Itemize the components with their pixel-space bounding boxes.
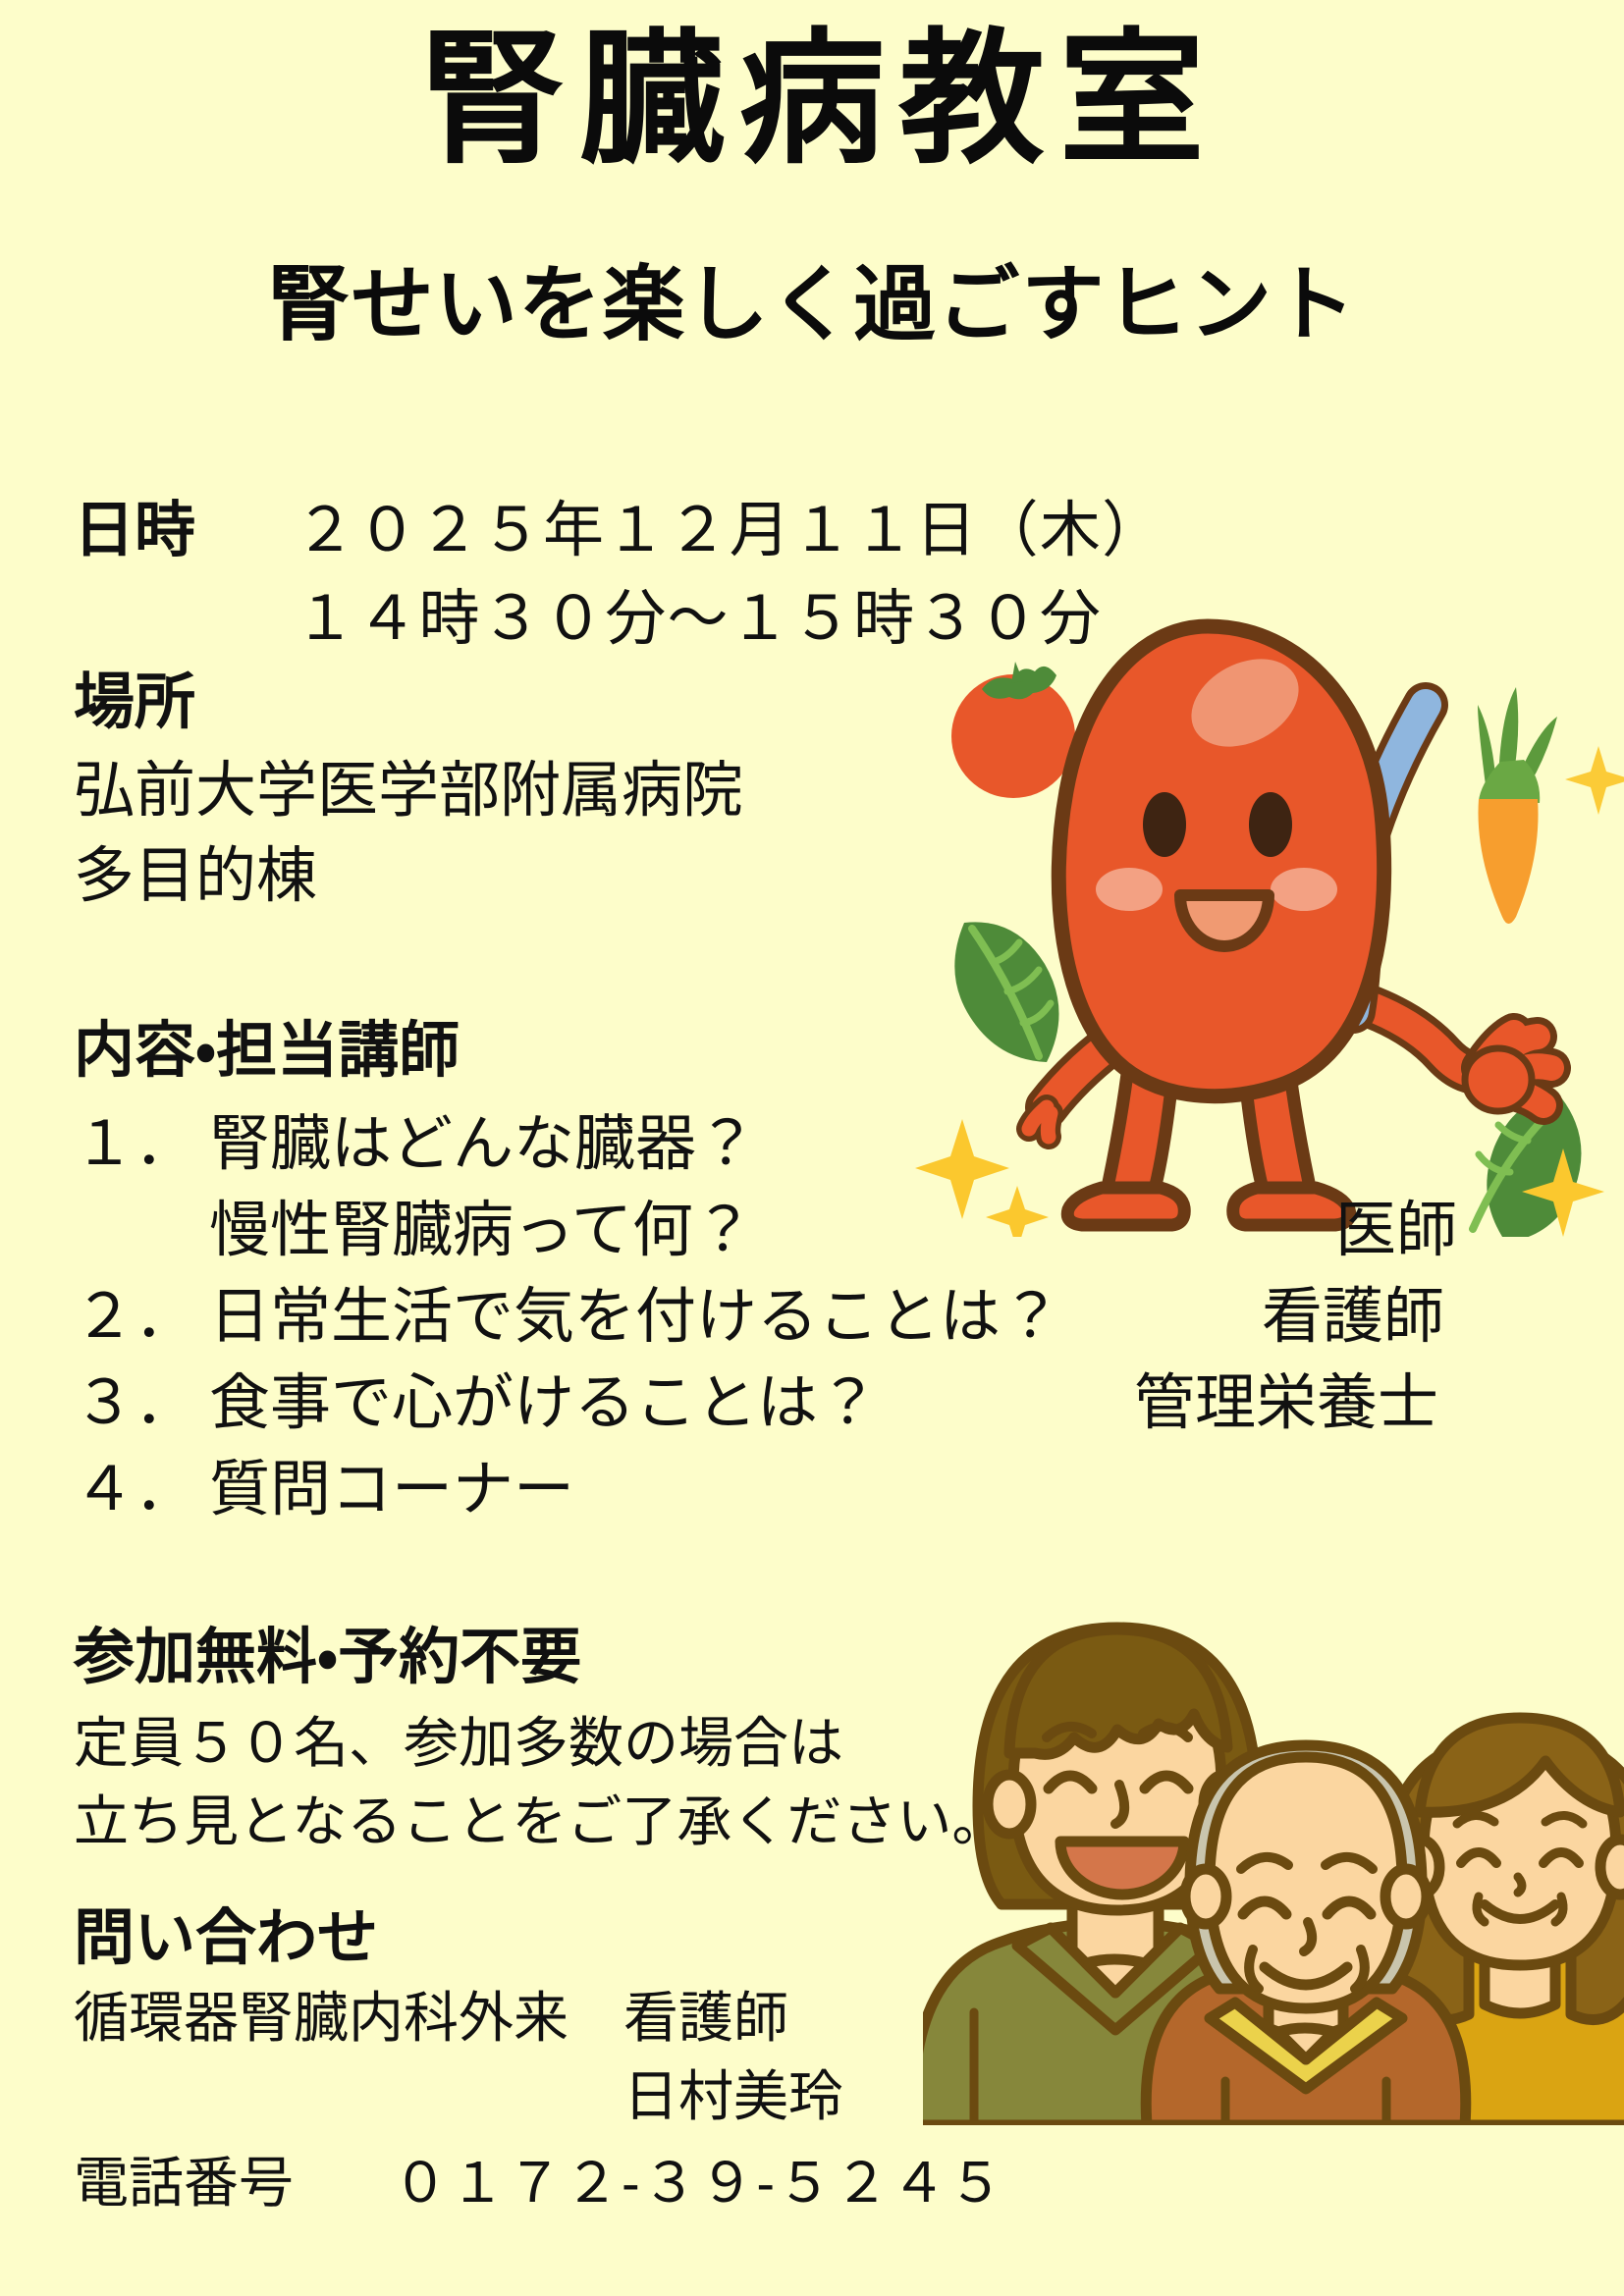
page-title: 腎臓病教室: [0, 27, 1624, 173]
program-item-instructor: 管理栄養士: [1134, 1373, 1438, 1434]
kidney-mouth: [1180, 895, 1269, 946]
carrot-icon: [1478, 687, 1557, 924]
page-subtitle: 腎せいを楽しく過ごすヒント: [0, 263, 1624, 346]
participation-note-line-2: 立ち見となることをご了承ください。: [74, 1794, 1006, 1849]
venue-line-2: 多目的棟: [74, 846, 317, 907]
datetime-date: ２０２５年１２月１１日（木）: [295, 501, 1164, 561]
spinach-leaf-icon: [954, 922, 1058, 1062]
program-item-text: 食事で心がけることは？: [209, 1373, 879, 1434]
program-label: 内容・担当講師: [74, 1021, 460, 1082]
contact-person: 日村美玲: [623, 2069, 843, 2124]
venue-line-1: 弘前大学医学部附属病院: [74, 761, 743, 822]
contact-phone-label: 電話番号: [74, 2156, 294, 2211]
kidney-cheek-left: [1096, 868, 1163, 911]
venue-label: 場所: [74, 672, 195, 733]
sparkle-icon: [986, 1186, 1049, 1237]
kidney-cheek-right: [1271, 868, 1337, 911]
kidney-mascot-illustration: [913, 599, 1624, 1237]
program-item-number: １．: [74, 1114, 195, 1175]
program-item-instructor: 医師: [1335, 1201, 1457, 1261]
datetime-time: １４時３０分～１５時３０分: [295, 589, 1102, 650]
program-item-number: ４．: [74, 1460, 195, 1521]
tomato-icon: [951, 662, 1075, 798]
program-item-number: ３．: [74, 1373, 195, 1434]
kidney-eye-right: [1249, 792, 1292, 857]
program-item-text: 腎臓はどんな臓器？: [209, 1114, 757, 1175]
datetime-label: 日時: [74, 501, 195, 561]
three-people-illustration: [923, 1590, 1624, 2125]
program-item-text: 質問コーナー: [209, 1460, 574, 1521]
sparkle-icon: [1565, 746, 1624, 815]
program-item-number: ２．: [74, 1287, 195, 1348]
kidney-body: [1058, 626, 1383, 1096]
poster-root: 腎臓病教室 腎せいを楽しく過ごすヒント: [0, 0, 1624, 2296]
program-item-text: 慢性腎臓病って何？: [209, 1201, 754, 1261]
contact-department: 循環器腎臓内科外来 看護師: [74, 1991, 788, 2046]
participation-headline: 参加無料・予約不要: [74, 1628, 581, 1688]
sparkle-icon: [915, 1119, 1009, 1219]
kidney-eye-left: [1143, 792, 1186, 857]
program-item-text: 日常生活で気を付けることは？: [209, 1287, 1061, 1348]
contact-label: 問い合わせ: [74, 1908, 378, 1969]
participation-note-line-1: 定員５０名、参加多数の場合は: [74, 1716, 843, 1771]
contact-phone-number: ０１７２-３９-５２４５: [393, 2156, 1005, 2211]
program-item-instructor: 看護師: [1262, 1287, 1444, 1348]
